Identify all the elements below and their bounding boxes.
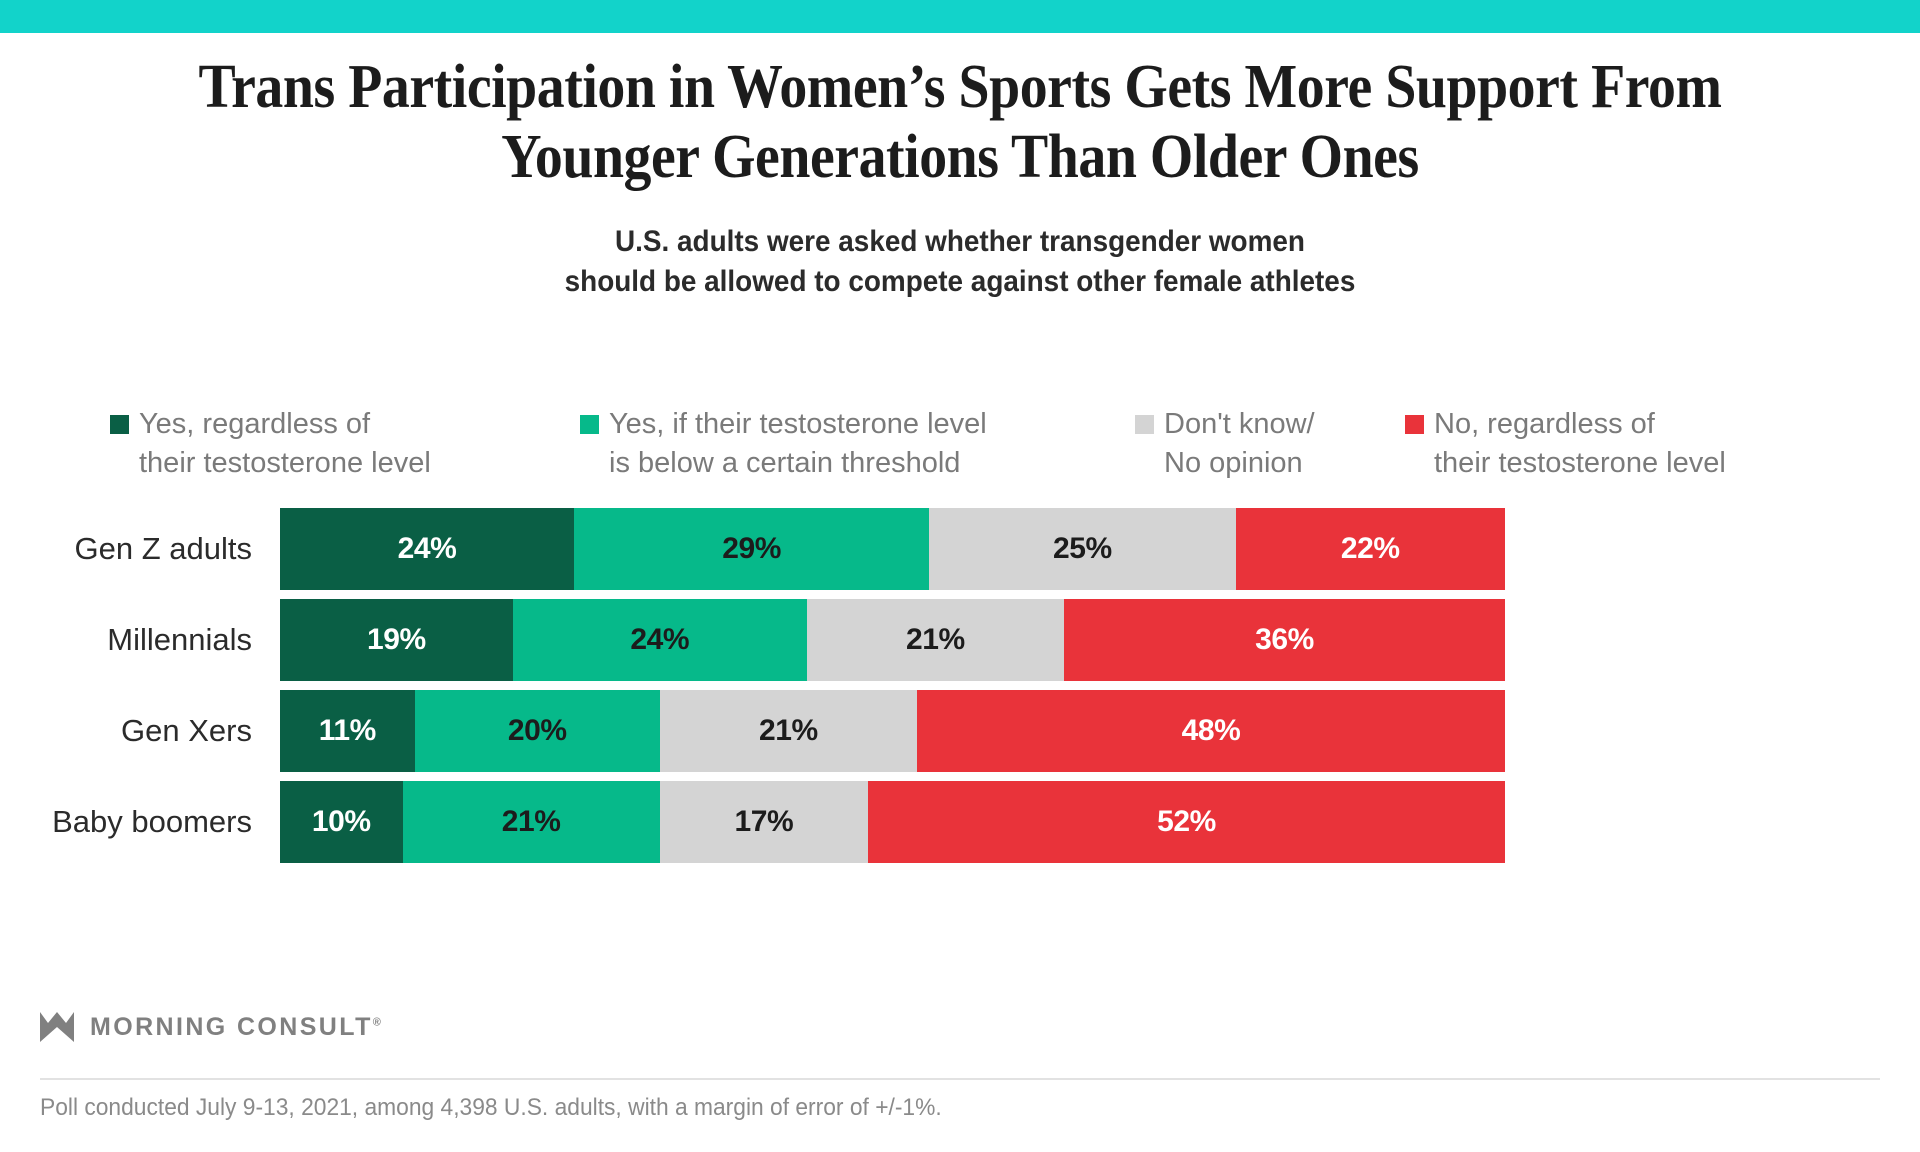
category-label: Gen Xers bbox=[0, 690, 280, 772]
bar-value-label: 17% bbox=[734, 805, 793, 839]
bar-value-label: 11% bbox=[319, 714, 376, 748]
bar-value-label: 22% bbox=[1341, 532, 1400, 566]
bar-value-label: 48% bbox=[1182, 714, 1241, 748]
subtitle-line-1: U.S. adults were asked whether transgend… bbox=[216, 222, 1704, 262]
bar-segment[interactable]: 21% bbox=[807, 599, 1064, 681]
bar-segment[interactable]: 11% bbox=[280, 690, 415, 772]
bar-segment[interactable]: 24% bbox=[513, 599, 807, 681]
category-label: Baby boomers bbox=[0, 781, 280, 863]
bar-segment[interactable]: 22% bbox=[1236, 508, 1506, 590]
stacked-bar-chart: Gen Z adults24%29%25%22%Millennials19%24… bbox=[0, 508, 1920, 872]
footer-divider bbox=[40, 1078, 1880, 1080]
bar-track: 19%24%21%36% bbox=[280, 599, 1505, 681]
chevron-m-icon bbox=[40, 1012, 74, 1042]
bar-segment[interactable]: 24% bbox=[280, 508, 574, 590]
top-accent-bar bbox=[0, 0, 1920, 33]
subtitle-line-2: should be allowed to compete against oth… bbox=[216, 262, 1704, 302]
legend-swatch-icon bbox=[1405, 415, 1424, 434]
chart-subtitle: U.S. adults were asked whether transgend… bbox=[160, 222, 1760, 302]
logo-text-label: MORNING CONSULT bbox=[90, 1013, 373, 1041]
legend-item-label: Don't know/ No opinion bbox=[1164, 405, 1315, 484]
bar-value-label: 29% bbox=[722, 532, 781, 566]
legend-item-label: Yes, if their testosterone level is belo… bbox=[609, 405, 987, 484]
chart-legend: Yes, regardless of their testosterone le… bbox=[110, 405, 1830, 484]
bar-segment[interactable]: 20% bbox=[415, 690, 660, 772]
registered-mark-icon: ® bbox=[373, 1016, 381, 1028]
bar-track: 10%21%17%52% bbox=[280, 781, 1505, 863]
bar-value-label: 10% bbox=[312, 805, 371, 839]
legend-swatch-icon bbox=[580, 415, 599, 434]
bar-segment[interactable]: 21% bbox=[403, 781, 660, 863]
morning-consult-logo: MORNING CONSULT® bbox=[40, 1012, 381, 1042]
bar-value-label: 21% bbox=[502, 805, 561, 839]
bar-value-label: 20% bbox=[508, 714, 567, 748]
bar-segment[interactable]: 19% bbox=[280, 599, 513, 681]
bar-value-label: 19% bbox=[367, 623, 426, 657]
bar-segment[interactable]: 48% bbox=[917, 690, 1505, 772]
logo-wordmark: MORNING CONSULT® bbox=[90, 1013, 381, 1042]
bar-segment[interactable]: 21% bbox=[660, 690, 917, 772]
bar-track: 11%20%21%48% bbox=[280, 690, 1505, 772]
title-text: Trans Participation in Women’s Sports Ge… bbox=[195, 52, 1725, 192]
bar-segment[interactable]: 52% bbox=[868, 781, 1505, 863]
chart-row: Baby boomers10%21%17%52% bbox=[0, 781, 1920, 863]
bar-segment[interactable]: 25% bbox=[929, 508, 1235, 590]
bar-value-label: 25% bbox=[1053, 532, 1112, 566]
bar-value-label: 52% bbox=[1157, 805, 1216, 839]
legend-item-label: Yes, regardless of their testosterone le… bbox=[139, 405, 431, 484]
bar-segment[interactable]: 10% bbox=[280, 781, 403, 863]
bar-segment[interactable]: 17% bbox=[660, 781, 868, 863]
legend-swatch-icon bbox=[1135, 415, 1154, 434]
footnote: Poll conducted July 9-13, 2021, among 4,… bbox=[40, 1094, 942, 1122]
legend-item-1[interactable]: Yes, if their testosterone level is belo… bbox=[580, 405, 1135, 484]
bar-value-label: 36% bbox=[1255, 623, 1314, 657]
page-title: Trans Participation in Women’s Sports Ge… bbox=[110, 52, 1810, 192]
legend-item-3[interactable]: No, regardless of their testosterone lev… bbox=[1405, 405, 1805, 484]
legend-item-2[interactable]: Don't know/ No opinion bbox=[1135, 405, 1405, 484]
category-label: Millennials bbox=[0, 599, 280, 681]
legend-swatch-icon bbox=[110, 415, 129, 434]
bar-value-label: 21% bbox=[759, 714, 818, 748]
category-label: Gen Z adults bbox=[0, 508, 280, 590]
legend-item-label: No, regardless of their testosterone lev… bbox=[1434, 405, 1726, 484]
chart-row: Gen Z adults24%29%25%22% bbox=[0, 508, 1920, 590]
chart-row: Millennials19%24%21%36% bbox=[0, 599, 1920, 681]
bar-value-label: 21% bbox=[906, 623, 965, 657]
legend-item-0[interactable]: Yes, regardless of their testosterone le… bbox=[110, 405, 580, 484]
bar-value-label: 24% bbox=[630, 623, 689, 657]
bar-segment[interactable]: 36% bbox=[1064, 599, 1505, 681]
chart-row: Gen Xers11%20%21%48% bbox=[0, 690, 1920, 772]
bar-value-label: 24% bbox=[398, 532, 457, 566]
bar-track: 24%29%25%22% bbox=[280, 508, 1505, 590]
bar-segment[interactable]: 29% bbox=[574, 508, 929, 590]
